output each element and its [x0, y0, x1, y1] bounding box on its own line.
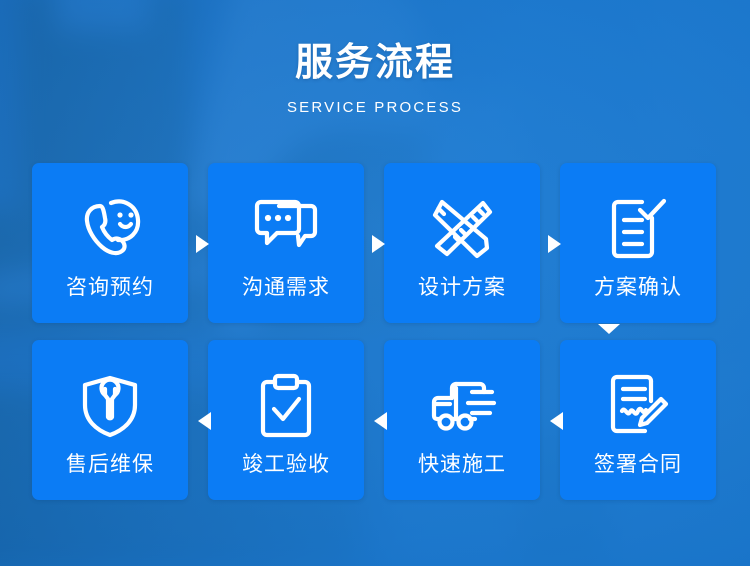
process-step-consultation[interactable]: 咨询预约 [32, 163, 188, 323]
chat-bubbles-icon [250, 193, 322, 265]
pencil-ruler-icon [426, 193, 498, 265]
arrow-right-icon [548, 235, 561, 253]
process-step-label: 签署合同 [594, 454, 682, 475]
process-step-plan-confirm[interactable]: 方案确认 [560, 163, 716, 323]
header: 服务流程 SERVICE PROCESS [0, 44, 750, 116]
delivery-truck-icon [426, 370, 498, 442]
clipboard-check-icon [250, 370, 322, 442]
process-step-label: 设计方案 [418, 277, 506, 298]
page-title: 服务流程 [0, 44, 750, 82]
process-step-acceptance[interactable]: 竣工验收 [208, 340, 364, 500]
process-step-label: 售后维保 [66, 454, 154, 475]
process-step-contract[interactable]: 签署合同 [560, 340, 716, 500]
process-step-after-sales[interactable]: 售后维保 [32, 340, 188, 500]
service-process-banner: 服务流程 SERVICE PROCESS 咨询预约 [0, 0, 750, 566]
arrow-left-icon [374, 412, 387, 430]
arrow-left-icon [550, 412, 563, 430]
page-subtitle: SERVICE PROCESS [0, 99, 750, 116]
phone-smiley-icon [74, 193, 146, 265]
process-row-top: 咨询预约 沟通需求 [32, 163, 718, 323]
process-step-label: 方案确认 [594, 277, 682, 298]
contract-signature-icon [602, 370, 674, 442]
document-check-icon [602, 193, 674, 265]
process-step-label: 竣工验收 [242, 454, 330, 475]
arrow-down-icon [598, 324, 620, 334]
process-step-requirements[interactable]: 沟通需求 [208, 163, 364, 323]
arrow-right-icon [372, 235, 385, 253]
process-row-bottom: 售后维保 竣工验收 [32, 340, 718, 500]
arrow-left-icon [198, 412, 211, 430]
shield-wrench-icon [74, 370, 146, 442]
process-step-label: 沟通需求 [242, 277, 330, 298]
process-step-design[interactable]: 设计方案 [384, 163, 540, 323]
process-step-label: 咨询预约 [66, 277, 154, 298]
arrow-right-icon [196, 235, 209, 253]
process-step-label: 快速施工 [418, 454, 506, 475]
process-step-construction[interactable]: 快速施工 [384, 340, 540, 500]
